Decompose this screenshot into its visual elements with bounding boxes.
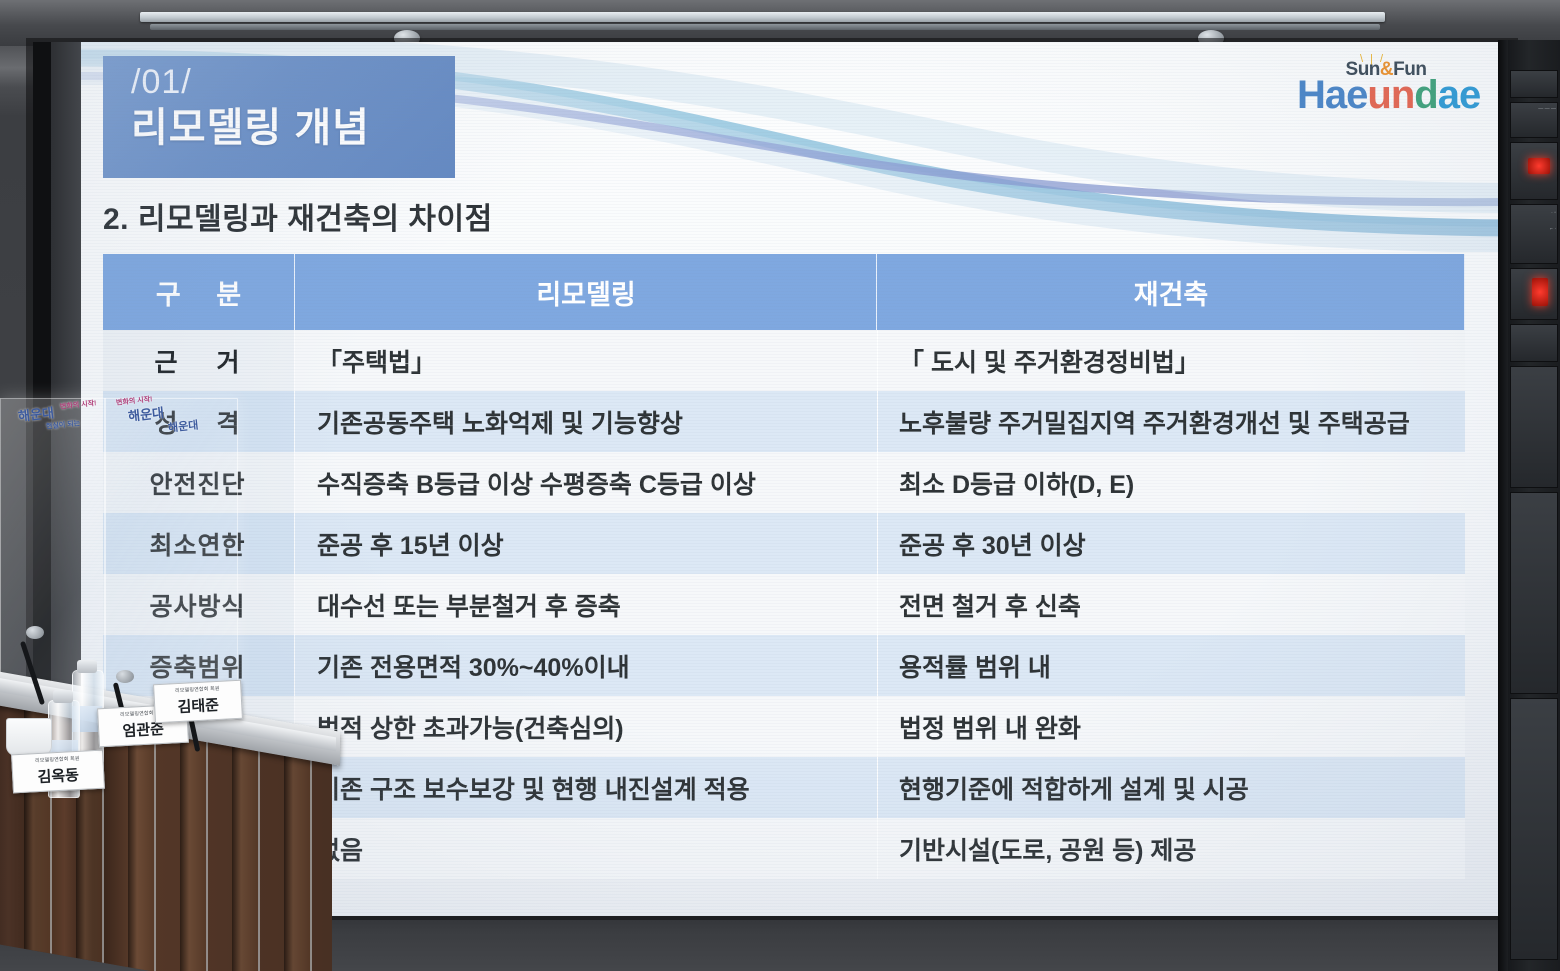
logo-haeundae-text: Haeundae <box>1297 75 1475 115</box>
nameplate: 리모델링연합회 회원 김옥동 <box>11 750 105 794</box>
cell-reconstruction: 기반시설(도로, 공원 등) 제공 <box>877 818 1465 879</box>
table-row: 안전진단수직증축 B등급 이상 수평증축 C등급 이상최소 D등급 이하(D, … <box>103 452 1465 513</box>
status-led-indicator <box>1532 278 1548 306</box>
cell-reconstruction: 노후불량 주거밀집지역 주거환경개선 및 주택공급 <box>877 391 1465 452</box>
cell-remodeling: 준공 후 15년 이상 <box>295 513 877 574</box>
acrylic-partition-seam <box>104 398 106 728</box>
slide-title-block: /01/ 리모델링 개념 <box>103 56 455 178</box>
rack-label: ⌐ · <box>1550 226 1556 232</box>
table-header-row: 구 분 리모델링 재건축 <box>103 254 1465 330</box>
row-label: 근 거 <box>103 330 295 391</box>
nameplate: 리모델링연합회 회원 김태준 <box>153 680 243 724</box>
cell-reconstruction: 전면 철거 후 신축 <box>877 574 1465 635</box>
microphone-head <box>116 670 134 683</box>
cell-remodeling: 대수선 또는 부분철거 후 증축 <box>295 574 877 635</box>
nameplate-name: 김옥동 <box>19 763 98 788</box>
shield-brand-text: 해운대 <box>167 416 199 435</box>
section-title: 리모델링 개념 <box>131 102 455 154</box>
cell-reconstruction: 「 도시 및 주거환경정비법」 <box>877 330 1465 391</box>
ceiling-rail-secondary <box>150 24 1380 30</box>
cell-reconstruction: 준공 후 30년 이상 <box>877 513 1465 574</box>
cell-remodeling: 기존 구조 보수보강 및 현행 내진설계 적용 <box>295 757 877 818</box>
rack-panel[interactable] <box>1510 70 1558 98</box>
rack-panel[interactable] <box>1510 324 1558 362</box>
paper-cup <box>6 718 52 756</box>
microphone-head <box>26 626 44 639</box>
rack-panel[interactable] <box>1510 492 1558 694</box>
bottle-cap <box>53 690 73 703</box>
cell-remodeling: 「주택법」 <box>295 330 877 391</box>
table-row: 성 격기존공동주택 노화억제 및 기능향상노후불량 주거밀집지역 주거환경개선 … <box>103 391 1465 452</box>
status-led-indicator <box>1528 158 1550 174</box>
screenshot-root: /01/ 리모델링 개념 \ | / Sun&Fun Haeundae 2. 리… <box>0 0 1560 971</box>
page-title: 2. 리모델링과 재건축의 차이점 <box>103 194 493 238</box>
column-header-remodeling: 리모델링 <box>295 254 877 330</box>
cell-reconstruction: 법정 범위 내 완화 <box>877 696 1465 757</box>
column-header-reconstruction: 재건축 <box>877 254 1465 330</box>
sun-rays-icon: \ | / <box>1360 54 1385 65</box>
section-number: /01/ <box>131 62 455 102</box>
cell-remodeling: 없음 <box>295 818 877 879</box>
rack-edge <box>1498 40 1508 971</box>
cell-reconstruction: 현행기준에 적합하게 설계 및 시공 <box>877 757 1465 818</box>
rack-panel[interactable] <box>1510 698 1558 960</box>
logo-un: un <box>1367 73 1414 117</box>
rack-label: · ▫ <box>1551 210 1556 216</box>
logo-d: d <box>1414 73 1437 117</box>
table-row: 증축범위기존 전용면적 30%~40%이내용적률 범위 내 <box>103 635 1465 696</box>
table-row: 근 거「주택법」「 도시 및 주거환경정비법」 <box>103 330 1465 391</box>
cell-reconstruction: 최소 D등급 이하(D, E) <box>877 452 1465 513</box>
bottle-cap <box>77 660 97 673</box>
rack-label: — — — <box>1538 106 1556 112</box>
cell-remodeling: 기존 전용면적 30%~40%이내 <box>295 635 877 696</box>
table-row: 공사방식대수선 또는 부분철거 후 증축전면 철거 후 신축 <box>103 574 1465 635</box>
cell-remodeling: 기존공동주택 노화억제 및 기능향상 <box>295 391 877 452</box>
nameplate-name: 김태준 <box>161 693 236 718</box>
cell-reconstruction: 용적률 범위 내 <box>877 635 1465 696</box>
table-row: 최소연한준공 후 15년 이상준공 후 30년 이상 <box>103 513 1465 574</box>
logo-hae: Hae <box>1297 73 1367 117</box>
rack-panel[interactable] <box>1510 366 1558 488</box>
logo-ae: ae <box>1438 73 1481 117</box>
cell-remodeling: 수직증축 B등급 이상 수평증축 C등급 이상 <box>295 452 877 513</box>
ceiling-rail <box>140 12 1385 22</box>
cell-remodeling: 법적 상한 초과가능(건축심의) <box>295 696 877 757</box>
equipment-rack: — — — · ▫ ⌐ · <box>1508 40 1560 971</box>
haeundae-logo: \ | / Sun&Fun Haeundae <box>1297 60 1475 115</box>
column-header-category: 구 분 <box>103 254 295 330</box>
